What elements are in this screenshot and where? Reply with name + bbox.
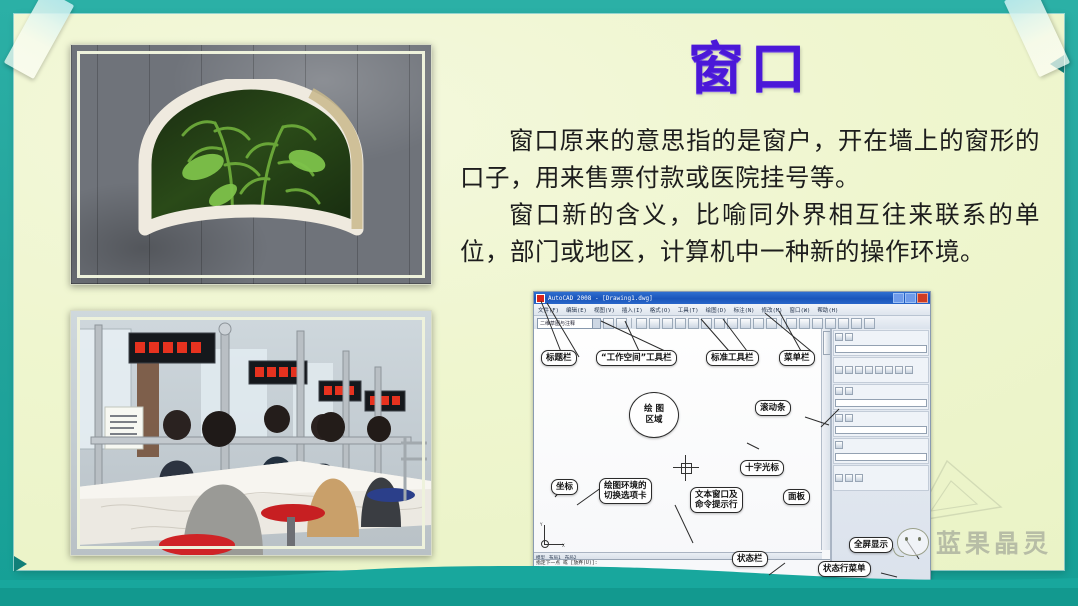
toolpalettes-icon[interactable] xyxy=(864,318,875,329)
watermark-text: 蓝果晶灵 xyxy=(936,524,1052,560)
panel-section-annotation[interactable] xyxy=(833,384,929,410)
workspace-settings-icon[interactable] xyxy=(603,318,614,329)
save-file-icon[interactable] xyxy=(662,318,673,329)
rectangle-icon[interactable] xyxy=(875,366,883,374)
body-text-block: 窗口原来的意思指的是窗户，开在墙上的窗形的口子，用来售票付款或医院挂号等。 窗口… xyxy=(460,122,1040,270)
zoom-previous-icon[interactable] xyxy=(825,318,836,329)
status-snap[interactable]: 捕捉 xyxy=(609,584,621,592)
zoom-icon[interactable] xyxy=(799,318,810,329)
status-polar[interactable]: 极轴 xyxy=(652,584,664,592)
paragraph-1: 窗口原来的意思指的是窗户，开在墙上的窗形的口子，用来售票付款或医院挂号等。 xyxy=(460,122,1040,196)
open-file-icon[interactable] xyxy=(649,318,660,329)
status-lineweight[interactable]: 线宽 xyxy=(741,584,753,592)
cad-window-buttons[interactable] xyxy=(893,293,928,303)
callout-standard: 标准工具栏 xyxy=(706,350,759,366)
scrollbar-thumb[interactable] xyxy=(823,331,831,355)
close-icon[interactable] xyxy=(917,293,928,303)
zoom-window-icon[interactable] xyxy=(812,318,823,329)
dimstyle-field[interactable] xyxy=(835,399,927,407)
fan-shaped-window-photo xyxy=(70,44,432,285)
callout-panel: 面板 xyxy=(783,489,810,505)
maximize-icon[interactable] xyxy=(905,293,916,303)
status-osnap[interactable]: 对象捕捉 xyxy=(666,584,687,592)
menu-item-help[interactable]: 帮助(H) xyxy=(817,306,838,314)
layer-icon[interactable] xyxy=(835,333,843,341)
cut-icon[interactable] xyxy=(714,318,725,329)
status-ortho[interactable]: 正交 xyxy=(637,584,649,592)
sprite-face-logo-icon xyxy=(897,528,929,556)
callout-fullscreen: 全屏显示 xyxy=(849,537,893,553)
cad-drawing-area[interactable]: X Y 模型 布局1 布局2 指定下一点 或 [放弃(U)]: 命令: 2451… xyxy=(534,329,831,592)
menu-item-view[interactable]: 视图(V) xyxy=(594,306,615,314)
toolbar-separator xyxy=(631,318,632,328)
crosshair-cursor xyxy=(673,455,699,481)
status-ducs[interactable]: DUCS xyxy=(712,584,726,591)
new-file-icon[interactable] xyxy=(636,318,647,329)
callout-workspace: “工作空间”工具栏 xyxy=(596,350,677,366)
menu-item-format[interactable]: 格式(O) xyxy=(650,306,671,314)
left-edge-notch xyxy=(14,556,27,572)
panel-section-text[interactable] xyxy=(833,411,929,437)
spline-icon[interactable] xyxy=(905,366,913,374)
cad-title-text: AutoCAD 2008 - [Drawing1.dwg] xyxy=(548,295,890,302)
photo-mat-border xyxy=(77,51,425,278)
workspace-save-icon[interactable] xyxy=(616,318,627,329)
callout-menubar: 菜单栏 xyxy=(779,350,815,366)
callout-drawarea: 绘 图 区域 xyxy=(629,392,679,438)
multiline-text-icon[interactable] xyxy=(845,414,853,422)
photo-mat-border xyxy=(77,317,425,549)
chevron-down-icon[interactable] xyxy=(592,319,600,328)
status-otrack[interactable]: 对象追踪 xyxy=(689,584,710,592)
workspace-combo[interactable]: 二维草图与注释 xyxy=(537,318,601,329)
workspace-combo-value: 二维草图与注释 xyxy=(540,320,592,327)
callout-scrollbar: 滚动条 xyxy=(755,400,791,416)
table-icon[interactable] xyxy=(835,441,843,449)
status-bar[interactable]: 2451.4102, 313.5590 , 0.0000 捕捉 栅格 正交 极轴… xyxy=(534,582,830,592)
circle-icon[interactable] xyxy=(855,366,863,374)
print-icon[interactable] xyxy=(675,318,686,329)
ucs-coordinate-icon: X Y xyxy=(540,522,566,548)
paragraph-2: 窗口新的含义，比喻同外界相互往来联系的单位，部门或地区，计算机中一种新的操作环境… xyxy=(460,196,1040,270)
cad-title-bar: AutoCAD 2008 - [Drawing1.dwg] xyxy=(534,292,930,304)
block-edit-icon[interactable] xyxy=(845,474,853,482)
panel-section-2d-draw[interactable] xyxy=(833,357,929,383)
callout-crosshair: 十字光标 xyxy=(740,460,784,476)
autocad-app-icon xyxy=(536,294,545,303)
callout-statusbar: 状态栏 xyxy=(732,551,768,567)
menu-item-edit[interactable]: 编辑(E) xyxy=(566,306,587,314)
properties-icon[interactable] xyxy=(838,318,849,329)
status-grid[interactable]: 栅格 xyxy=(623,584,635,592)
pan-icon[interactable] xyxy=(786,318,797,329)
panel-section-layers[interactable] xyxy=(833,330,929,356)
status-coordinates: 2451.4102, 313.5590 , 0.0000 xyxy=(536,585,607,590)
status-model[interactable]: 模型 xyxy=(756,584,768,592)
cad-menu-bar[interactable]: 文件(F) 编辑(E) 视图(V) 插入(I) 格式(O) 工具(T) 绘图(D… xyxy=(534,304,930,316)
vertical-scrollbar[interactable] xyxy=(821,329,830,550)
command-window[interactable]: 指定下一点 或 [放弃(U)]: 命令: xyxy=(534,559,830,583)
menu-item-modify[interactable]: 修改(M) xyxy=(762,306,783,314)
page-title: 窗口 xyxy=(470,42,1030,98)
menu-item-window[interactable]: 窗口(W) xyxy=(789,306,810,314)
minimize-icon[interactable] xyxy=(893,293,904,303)
block-attribute-icon[interactable] xyxy=(855,474,863,482)
text-style-icon[interactable] xyxy=(835,414,843,422)
ellipse-icon[interactable] xyxy=(895,366,903,374)
status-dyn[interactable]: DYN xyxy=(728,584,740,591)
tablestyle-field[interactable] xyxy=(835,453,927,461)
line-icon[interactable] xyxy=(835,366,843,374)
match-properties-icon[interactable] xyxy=(753,318,764,329)
panel-section-blocks[interactable] xyxy=(833,465,929,491)
hatch-icon[interactable] xyxy=(885,366,893,374)
block-insert-icon[interactable] xyxy=(835,474,843,482)
textstyle-field[interactable] xyxy=(835,426,927,434)
layer-name-field[interactable] xyxy=(835,345,927,353)
copy-icon[interactable] xyxy=(727,318,738,329)
callout-statusmenu: 状态行菜单 xyxy=(818,561,871,577)
dimension-icon[interactable] xyxy=(835,387,843,395)
menu-item-dimension[interactable]: 标注(N) xyxy=(734,306,755,314)
layer-properties-icon[interactable] xyxy=(845,333,853,341)
publish-icon[interactable] xyxy=(701,318,712,329)
command-line-2: 命令: xyxy=(536,567,828,573)
undo-icon[interactable] xyxy=(766,318,777,329)
service-counter-photo xyxy=(70,310,432,556)
callout-textwin: 文本窗口及 命令提示行 xyxy=(690,487,743,513)
callout-envtabs: 绘图环境的 切换选项卡 xyxy=(599,478,652,504)
callout-titlebar: 标题栏 xyxy=(541,350,577,366)
menu-item-insert[interactable]: 插入(I) xyxy=(622,306,643,314)
menu-item-draw[interactable]: 绘图(D) xyxy=(706,306,727,314)
toolbar-separator xyxy=(781,318,782,328)
menu-item-tools[interactable]: 工具(T) xyxy=(678,306,699,314)
leader-icon[interactable] xyxy=(845,387,853,395)
callout-coordinate: 坐标 xyxy=(551,479,578,495)
menu-item-file[interactable]: 文件(F) xyxy=(538,306,559,314)
arc-icon[interactable] xyxy=(865,366,873,374)
slide-root: 窗口 窗口原来的意思指的是窗户，开在墙上的窗形的口子，用来售票付款或医院挂号等。… xyxy=(0,0,1078,606)
watermark: 蓝果晶灵 xyxy=(897,524,1052,560)
designcenter-icon[interactable] xyxy=(851,318,862,329)
polyline-icon[interactable] xyxy=(845,366,853,374)
paste-icon[interactable] xyxy=(740,318,751,329)
panel-section-tables[interactable] xyxy=(833,438,929,464)
plot-preview-icon[interactable] xyxy=(688,318,699,329)
